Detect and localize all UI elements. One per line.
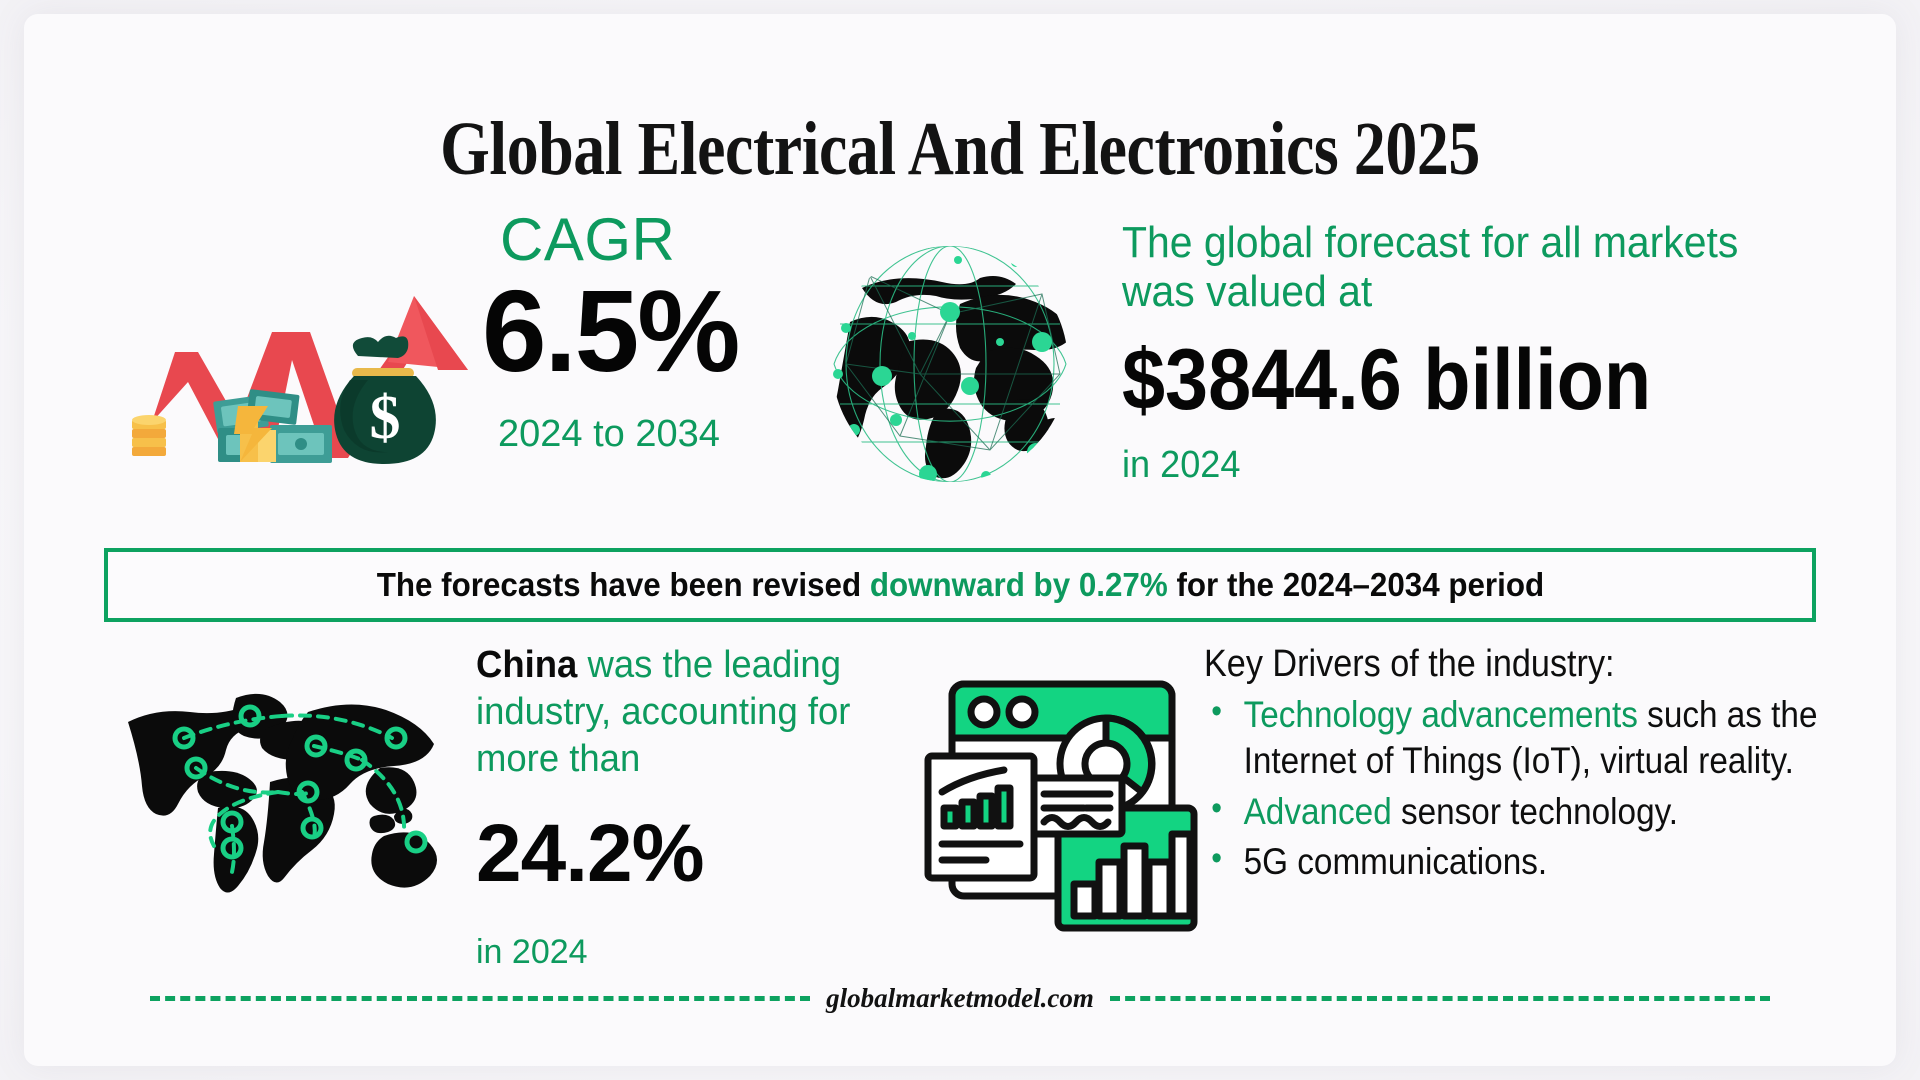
driver-highlight: Technology advancements: [1244, 694, 1638, 735]
cagr-label: CAGR: [476, 210, 806, 270]
cagr-value: 6.5%: [476, 270, 806, 393]
drivers-list: Technology advancements such as the Inte…: [1204, 692, 1896, 886]
banner-highlight: downward by 0.27%: [869, 566, 1167, 603]
drivers-block: Key Drivers of the industry: Technology …: [1204, 642, 1896, 886]
china-year: in 2024: [476, 935, 906, 969]
footer-source: globalmarketmodel.com: [826, 983, 1094, 1014]
row-china-drivers: China was the leading industry, accounti…: [24, 642, 1896, 982]
driver-highlight: Advanced: [1244, 791, 1392, 832]
driver-rest: 5G communications.: [1244, 841, 1548, 882]
forecast-lead: The global forecast for all markets was …: [1122, 218, 1792, 317]
list-item: Technology advancements such as the Inte…: [1204, 692, 1834, 785]
page-title: Global Electrical And Electronics 2025: [174, 106, 1746, 193]
china-lead: China was the leading industry, accounti…: [476, 642, 889, 783]
banner-part1: The forecasts have been revised: [376, 566, 869, 603]
footer: globalmarketmodel.com: [24, 983, 1896, 1014]
banner-part2: for the 2024–2034 period: [1167, 566, 1543, 603]
revision-banner-text: The forecasts have been revised downward…: [376, 566, 1543, 604]
footer-divider-left: [150, 996, 810, 1001]
forecast-block: The global forecast for all markets was …: [1122, 218, 1842, 484]
forecast-year: in 2024: [1122, 446, 1806, 484]
forecast-value: $3844.6 billion: [1122, 331, 1770, 431]
driver-rest: sensor technology.: [1392, 791, 1678, 832]
svg-text:$: $: [370, 384, 401, 452]
cagr-period: 2024 to 2034: [476, 415, 806, 453]
footer-divider-right: [1110, 996, 1770, 1001]
globe-network-icon: [810, 224, 1090, 494]
drivers-title: Key Drivers of the industry:: [1204, 642, 1834, 688]
infographic-card: Global Electrical And Electronics 2025: [24, 14, 1896, 1066]
list-item: Advanced sensor technology.: [1204, 789, 1834, 836]
row-forecast: $ CAGR 6.5% 2024 to 2034: [24, 210, 1896, 540]
analytics-dashboard-icon: [910, 656, 1200, 936]
infographic-page: Global Electrical And Electronics 2025: [0, 0, 1920, 1080]
world-map-network-icon: [112, 676, 452, 926]
cagr-block: CAGR 6.5% 2024 to 2034: [476, 210, 806, 453]
list-item: 5G communications.: [1204, 839, 1834, 886]
china-country: China: [476, 644, 577, 686]
revision-banner: The forecasts have been revised downward…: [104, 548, 1816, 622]
growth-arrow-money-icon: $: [120, 270, 480, 480]
china-value: 24.2%: [476, 813, 906, 895]
china-block: China was the leading industry, accounti…: [476, 642, 906, 969]
